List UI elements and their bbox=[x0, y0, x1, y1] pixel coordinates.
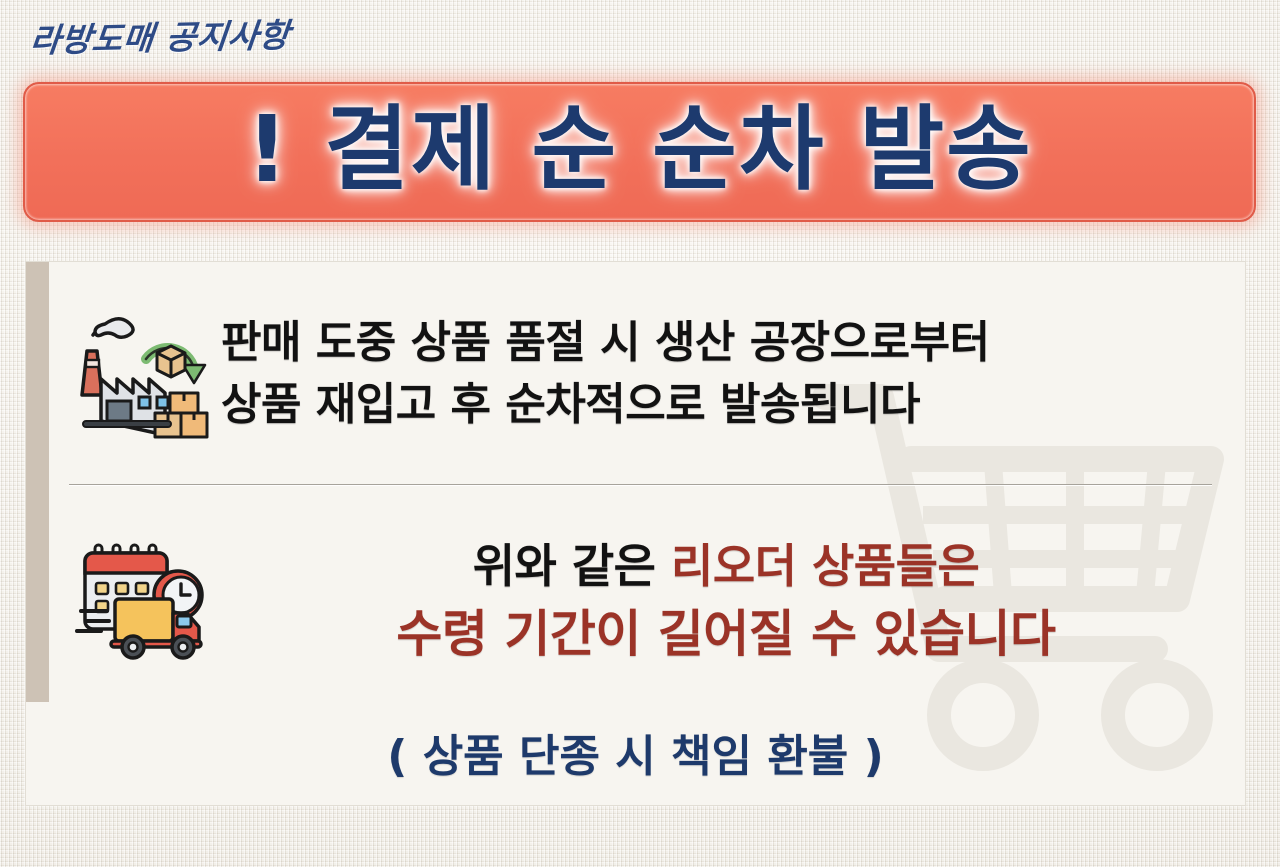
headline-banner: ! 결제 순 순차 발송 bbox=[23, 82, 1256, 222]
restock-line-2: 상품 재입고 후 순차적으로 발송됩니다 bbox=[221, 374, 1231, 436]
section-restock: 판매 도중 상품 품절 시 생산 공장으로부터 상품 재입고 후 순차적으로 발… bbox=[71, 284, 1231, 464]
restock-line-1: 판매 도중 상품 품절 시 생산 공장으로부터 bbox=[221, 312, 1231, 374]
card-body: 판매 도중 상품 품절 시 생산 공장으로부터 상품 재입고 후 순차적으로 발… bbox=[26, 262, 1245, 805]
reorder-line-1: 위와 같은 리오더 상품들은 bbox=[221, 534, 1231, 599]
headline-text: ! 결제 순 순차 발송 bbox=[246, 104, 1033, 196]
reorder-text-block: 위와 같은 리오더 상품들은 수령 기간이 길어질 수 있습니다 bbox=[221, 534, 1231, 670]
reorder-line-1-accent: 리오더 상품들은 bbox=[671, 539, 979, 593]
restock-text-block: 판매 도중 상품 품절 시 생산 공장으로부터 상품 재입고 후 순차적으로 발… bbox=[221, 312, 1231, 437]
page-root: 라방도매 공지사항 ! 결제 순 순차 발송 bbox=[0, 0, 1280, 867]
page-title: 라방도매 공지사항 bbox=[28, 9, 292, 62]
factory-reorder-icon bbox=[71, 309, 221, 439]
content-divider bbox=[69, 484, 1212, 485]
calendar-clock-truck-icon bbox=[71, 537, 221, 667]
notice-card: 판매 도중 상품 품절 시 생산 공장으로부터 상품 재입고 후 순차적으로 발… bbox=[25, 261, 1246, 806]
refund-footnote: ( 상품 단종 시 책임 환불 ) bbox=[26, 720, 1245, 784]
section-reorder: 위와 같은 리오더 상품들은 수령 기간이 길어질 수 있습니다 bbox=[71, 507, 1231, 697]
reorder-line-1-plain: 위와 같은 bbox=[473, 539, 671, 593]
reorder-line-2: 수령 기간이 길어질 수 있습니다 bbox=[221, 599, 1231, 670]
